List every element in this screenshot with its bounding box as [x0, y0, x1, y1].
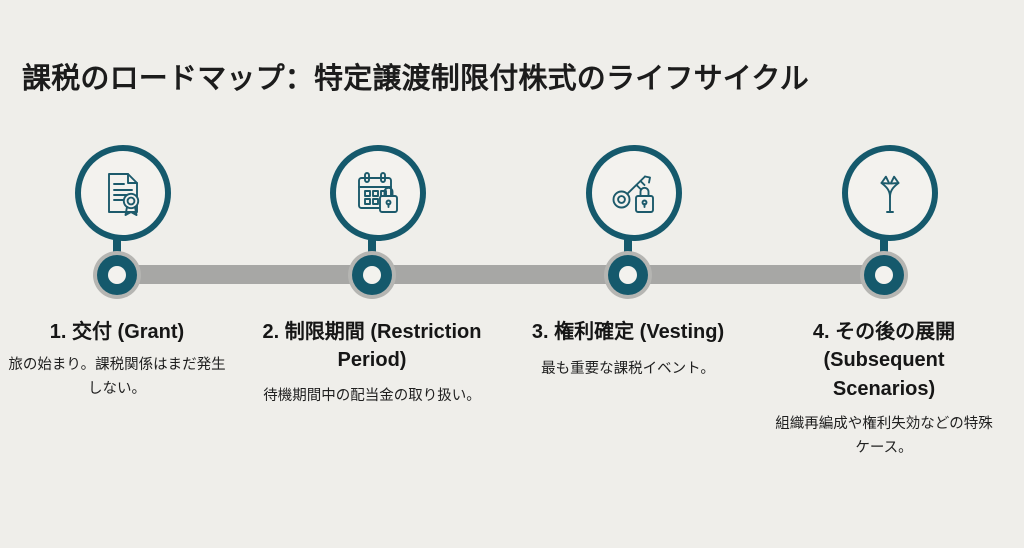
stage-4-title: 4. その後の展開 (Subsequent Scenarios): [770, 318, 998, 403]
stage-1-node-hole: [108, 266, 126, 284]
stage-2-node-hole: [363, 266, 381, 284]
stage-1-labels: 1. 交付 (Grant) 旅の始まり。課税関係はまだ発生しない。: [0, 318, 245, 401]
stage-1-description: 旅の始まり。課税関係はまだ発生しない。: [3, 354, 231, 401]
key-lock-icon: [611, 170, 657, 216]
certificate-seal-icon: [100, 170, 146, 216]
timeline-stage-2[interactable]: 2. 制限期間 (Restriction Period) 待機期間中の配当金の取…: [244, 0, 500, 548]
stage-2-title: 2. 制限期間 (Restriction Period): [258, 318, 486, 375]
timeline-stage-1[interactable]: 1. 交付 (Grant) 旅の始まり。課税関係はまだ発生しない。: [0, 0, 245, 548]
stage-4-node[interactable]: [864, 255, 904, 295]
stage-3-node[interactable]: [608, 255, 648, 295]
timeline-stage-4[interactable]: 4. その後の展開 (Subsequent Scenarios) 組織再編成や権…: [756, 0, 1012, 548]
stage-3-title: 3. 権利確定 (Vesting): [514, 318, 742, 346]
stage-4-description: 組織再編成や権利失効などの特殊ケース。: [770, 413, 998, 460]
stage-2-description: 待機期間中の配当金の取り扱い。: [258, 385, 486, 408]
stage-2-labels: 2. 制限期間 (Restriction Period) 待機期間中の配当金の取…: [244, 318, 500, 408]
stage-4-icon-bubble: [842, 145, 938, 241]
stage-1-title: 1. 交付 (Grant): [3, 318, 231, 346]
tax-roadmap-infographic: 課税のロードマップ：特定譲渡制限付株式のライフサイクル: [0, 0, 1024, 548]
branching-arrows-icon: [867, 170, 913, 216]
stage-3-icon-bubble: [586, 145, 682, 241]
stage-3-node-hole: [619, 266, 637, 284]
stage-1-icon-bubble: [75, 145, 171, 241]
stage-1-node[interactable]: [97, 255, 137, 295]
stage-2-icon-bubble: [330, 145, 426, 241]
stage-3-labels: 3. 権利確定 (Vesting) 最も重要な課税イベント。: [500, 318, 756, 382]
stage-4-node-hole: [875, 266, 893, 284]
stage-2-node[interactable]: [352, 255, 392, 295]
stage-4-labels: 4. その後の展開 (Subsequent Scenarios) 組織再編成や権…: [756, 318, 1012, 460]
stage-3-description: 最も重要な課税イベント。: [514, 358, 742, 381]
calendar-lock-icon: [355, 170, 401, 216]
timeline-stage-3[interactable]: 3. 権利確定 (Vesting) 最も重要な課税イベント。: [500, 0, 756, 548]
